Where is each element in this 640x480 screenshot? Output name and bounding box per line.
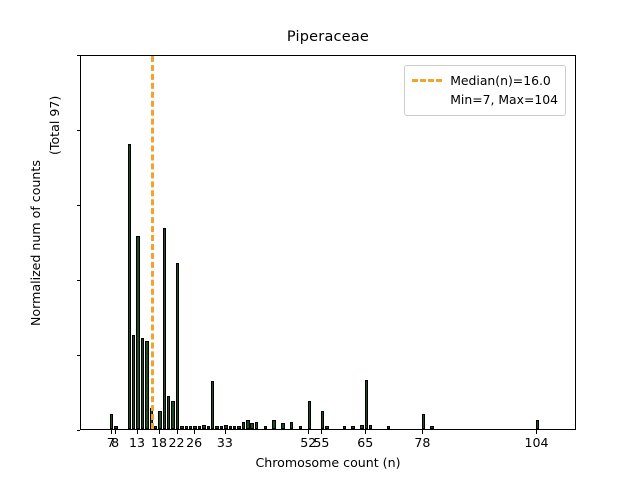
x-tick-label: 22 — [169, 435, 185, 450]
y-axis-label: Normalized num of counts — [28, 160, 43, 326]
x-tick-label: 104 — [524, 435, 548, 450]
y-axis-total-label: (Total 97) — [47, 96, 62, 155]
x-tick-label: 55 — [313, 435, 329, 450]
x-tick-label: 13 — [129, 435, 145, 450]
legend-item-median: Median(n)=16.0 — [412, 71, 558, 90]
x-tick-mark — [308, 430, 309, 434]
x-tick-label: 65 — [357, 435, 373, 450]
x-tick-mark — [536, 430, 537, 434]
x-tick-mark — [159, 430, 160, 434]
x-axis-label: Chromosome count (n) — [80, 455, 576, 470]
x-tick-label: 26 — [186, 435, 202, 450]
median-line — [151, 56, 154, 429]
chart-legend: Median(n)=16.0 Min=7, Max=104 — [404, 65, 566, 116]
x-tick-label: 78 — [414, 435, 430, 450]
plot-area: Median(n)=16.0 Min=7, Max=104 — [80, 55, 576, 430]
chart-title: Piperaceae — [80, 29, 576, 45]
legend-label-median: Median(n)=16.0 — [450, 73, 551, 88]
legend-item-minmax: Min=7, Max=104 — [412, 90, 558, 109]
x-tick-label: 8 — [111, 435, 119, 450]
x-tick-mark — [365, 430, 366, 434]
x-tick-mark — [225, 430, 226, 434]
x-tick-mark — [177, 430, 178, 434]
x-tick-mark — [194, 430, 195, 434]
x-tick-mark — [422, 430, 423, 434]
x-tick-label: 33 — [217, 435, 233, 450]
chart-figure: Piperaceae Normalized num of counts (Tot… — [0, 0, 640, 480]
x-tick-label: 18 — [151, 435, 167, 450]
x-tick-mark — [137, 430, 138, 434]
x-tick-mark — [321, 430, 322, 434]
x-tick-mark — [115, 430, 116, 434]
y-tick-mark — [77, 430, 81, 431]
x-tick-mark — [111, 430, 112, 434]
legend-label-minmax: Min=7, Max=104 — [450, 92, 558, 107]
dashed-line-icon — [412, 79, 442, 82]
